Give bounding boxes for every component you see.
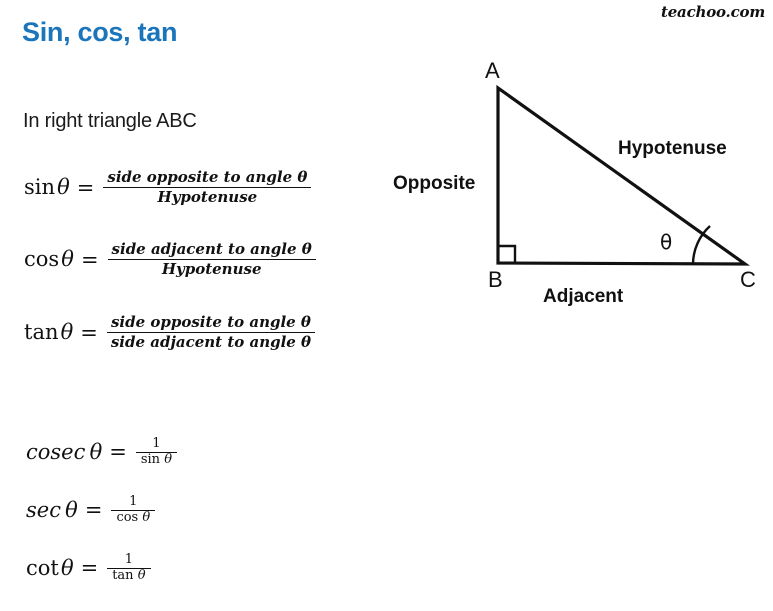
intro-text: In right triangle ABC — [23, 110, 197, 133]
side-label-opposite: Opposite — [393, 173, 475, 195]
denominator: Hypotenuse — [158, 260, 266, 279]
vertex-label-b: B — [488, 267, 503, 293]
numerator: 1 — [147, 437, 165, 452]
fraction-tan: side opposite to angle θ side adjacent t… — [107, 313, 315, 352]
numerator: 1 — [120, 553, 138, 568]
triangle-outline — [498, 88, 745, 264]
theta-symbol: θ — [164, 452, 172, 467]
slide-canvas: teachoo.com Sin, cos, tan In right trian… — [0, 0, 773, 611]
equation-cot: cot θ = 1 tan θ — [26, 553, 151, 583]
theta-symbol: θ — [90, 440, 103, 464]
equation-sec: sec θ = 1 cos θ — [26, 495, 155, 525]
equation-cos: cos θ = side adjacent to angle θ Hypoten… — [24, 240, 316, 279]
fraction-cosec: 1 sin θ — [136, 437, 177, 467]
angle-theta-label: θ — [660, 230, 672, 254]
equation-cot-lhs: cot θ — [26, 558, 74, 579]
numerator: side opposite to angle θ — [103, 168, 311, 187]
theta-symbol: θ — [138, 568, 146, 583]
theta-symbol: θ — [61, 556, 74, 580]
side-label-hypotenuse: Hypotenuse — [618, 138, 727, 160]
vertex-label-a: A — [485, 58, 500, 84]
right-angle-marker — [498, 246, 515, 263]
denominator: side adjacent to angle θ — [107, 333, 315, 352]
denominator: sin θ — [136, 453, 177, 468]
theta-symbol: θ — [142, 510, 150, 525]
equals-sign: = — [109, 440, 127, 464]
equation-cos-lhs: cos θ — [24, 249, 74, 270]
page-title: Sin, cos, tan — [22, 17, 177, 48]
equals-sign: = — [77, 176, 95, 200]
equals-sign: = — [80, 321, 98, 345]
equation-cosec-lhs: cosec θ — [26, 442, 102, 463]
theta-symbol: θ — [57, 175, 70, 199]
fraction-cot: 1 tan θ — [107, 553, 150, 583]
equation-sec-lhs: sec θ — [26, 500, 78, 521]
fraction-sin: side opposite to angle θ Hypotenuse — [103, 168, 311, 207]
equation-cosec: cosec θ = 1 sin θ — [26, 437, 177, 467]
theta-symbol: θ — [61, 247, 74, 271]
function-name-cosec: cosec — [26, 440, 85, 464]
teachoo-watermark: teachoo.com — [661, 3, 765, 21]
function-name-sin: sin — [24, 175, 55, 199]
function-name-sec: sec — [26, 498, 61, 522]
equals-sign: = — [81, 248, 99, 272]
denominator-function: sin — [141, 452, 160, 467]
function-name-cos: cos — [24, 247, 59, 271]
fraction-sec: 1 cos θ — [111, 495, 155, 525]
right-triangle-diagram: A B C Opposite Hypotenuse Adjacent θ — [388, 48, 773, 328]
denominator: tan θ — [107, 569, 150, 584]
equation-sin-lhs: sin θ — [24, 177, 70, 198]
function-name-cot: cot — [26, 556, 59, 580]
vertex-label-c: C — [740, 267, 756, 293]
fraction-cos: side adjacent to angle θ Hypotenuse — [108, 240, 316, 279]
numerator: side opposite to angle θ — [107, 313, 315, 332]
equation-sin: sin θ = side opposite to angle θ Hypoten… — [24, 168, 311, 207]
denominator: cos θ — [111, 511, 155, 526]
equation-tan-lhs: tan θ — [24, 322, 73, 343]
side-label-adjacent: Adjacent — [543, 286, 623, 308]
theta-symbol: θ — [61, 320, 74, 344]
theta-symbol: θ — [65, 498, 78, 522]
numerator: side adjacent to angle θ — [108, 240, 316, 259]
denominator-function: tan — [112, 568, 133, 583]
equals-sign: = — [85, 498, 103, 522]
function-name-tan: tan — [24, 320, 58, 344]
equals-sign: = — [81, 556, 99, 580]
denominator: Hypotenuse — [154, 188, 262, 207]
equation-tan: tan θ = side opposite to angle θ side ad… — [24, 313, 315, 352]
numerator: 1 — [124, 495, 142, 510]
denominator-function: cos — [116, 510, 138, 525]
